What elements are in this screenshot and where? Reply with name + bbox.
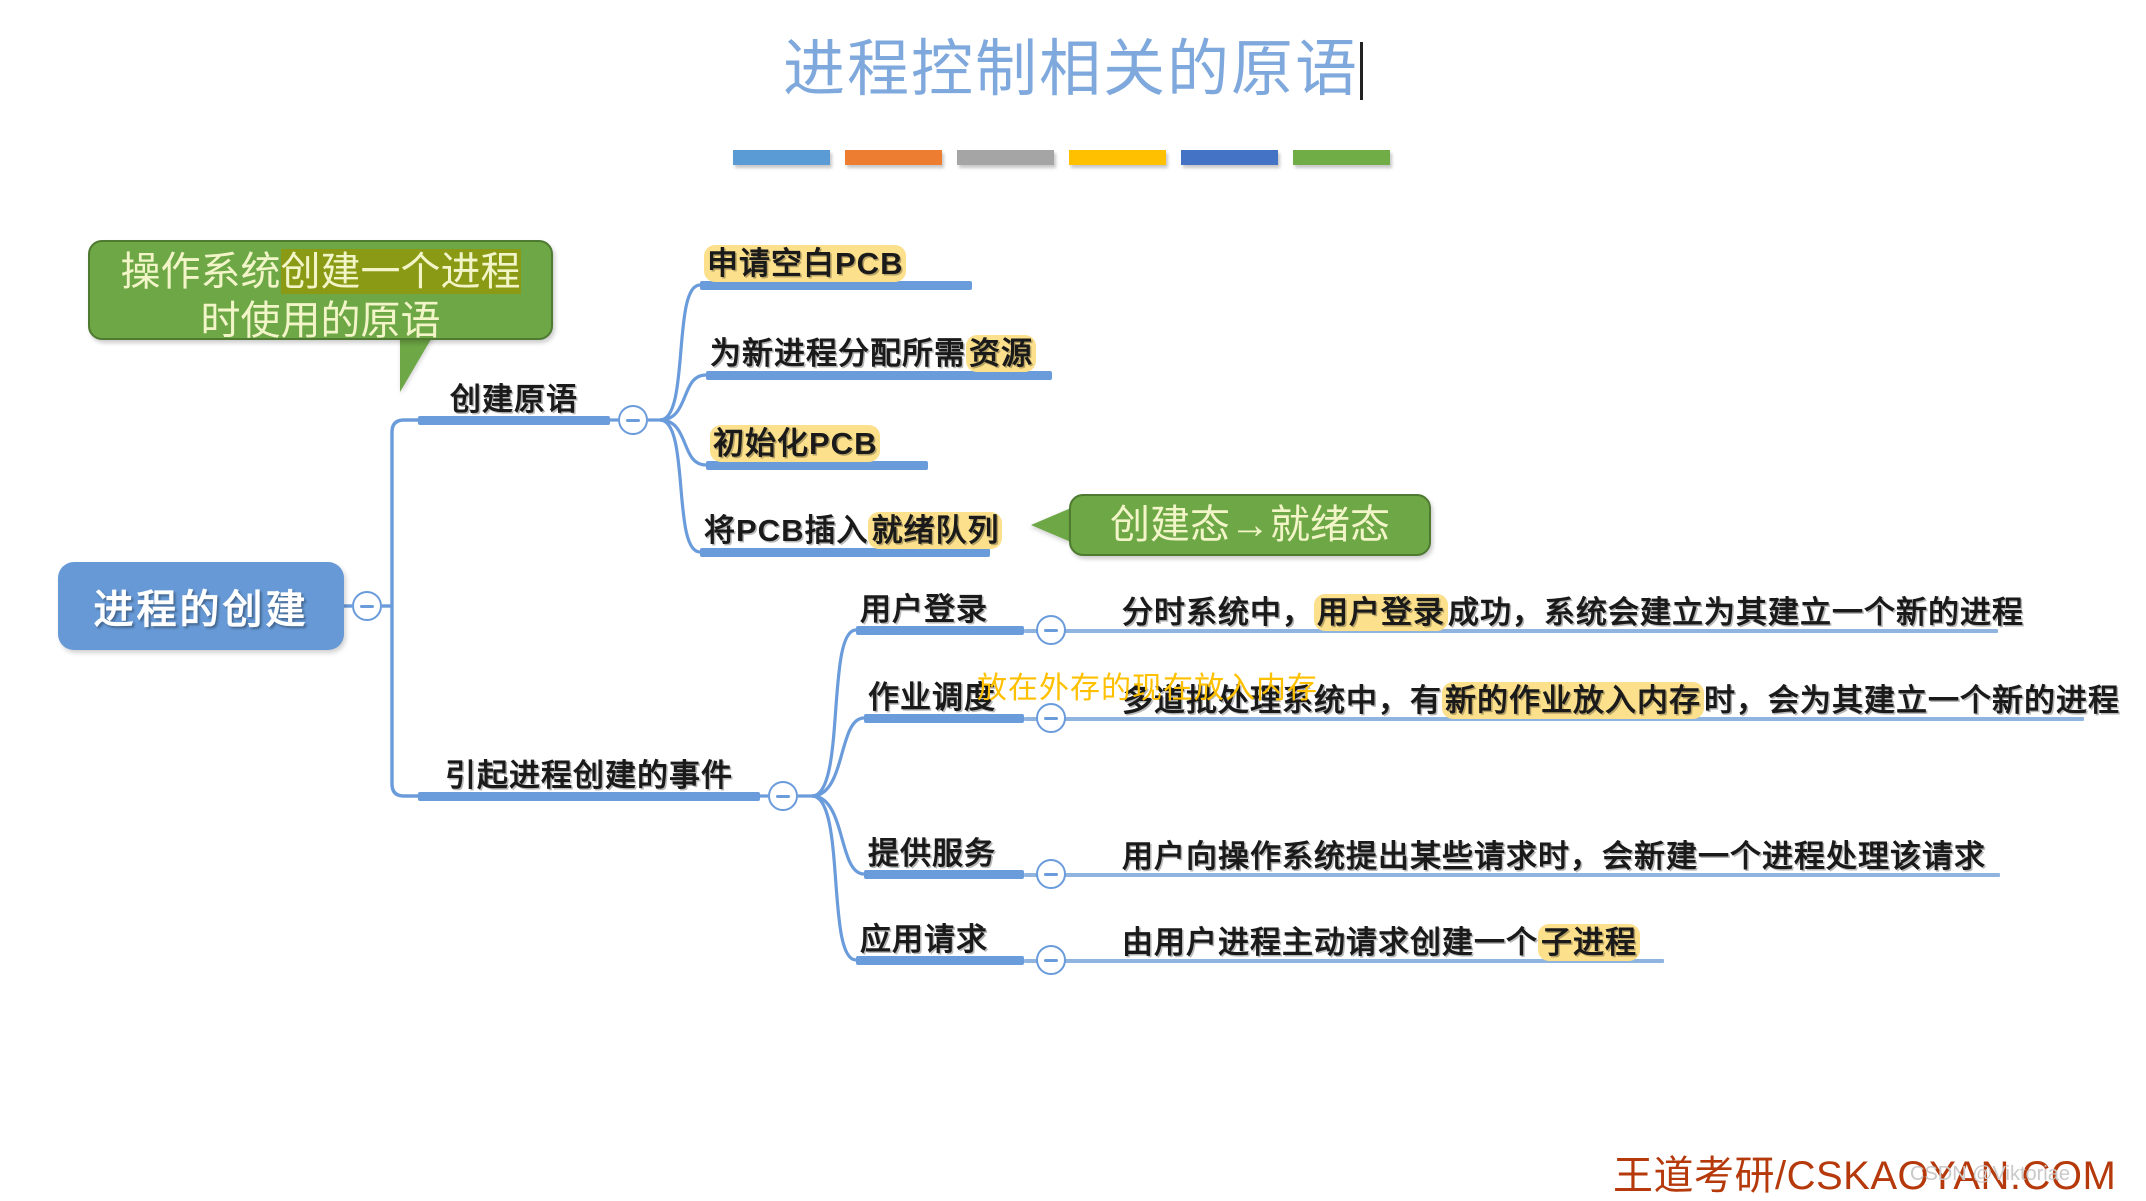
- branch-creation-events-collapse-toggle[interactable]: [768, 781, 798, 811]
- detail-node-application-request[interactable]: 由用户进程主动请求创建一个子进程: [1118, 917, 1644, 966]
- branch-node-create-primitive-label: 创建原语: [418, 374, 610, 423]
- callout-created-to-ready-text: 创建态→就绪态: [1110, 501, 1390, 550]
- root-collapse-toggle[interactable]: [352, 591, 382, 621]
- callout-created-to-ready[interactable]: 创建态→就绪态: [1069, 494, 1431, 556]
- detail-node-user-login[interactable]: 分时系统中，用户登录成功，系统会建立为其建立一个新的进程: [1118, 587, 2028, 636]
- branch-create-primitive-collapse-toggle[interactable]: [618, 405, 648, 435]
- callout-create-primitive-line2: 时使用的原语: [90, 297, 551, 346]
- leaf-node-application-request[interactable]: 应用请求: [856, 914, 992, 963]
- leaf-node-init-pcb[interactable]: 初始化PCB: [706, 418, 884, 467]
- leaf-provide-service-collapse-toggle[interactable]: [1036, 859, 1066, 889]
- leaf-node-user-login[interactable]: 用户登录: [856, 584, 992, 633]
- root-node-label: 进程的创建: [94, 577, 309, 635]
- leaf-job-scheduling-collapse-toggle[interactable]: [1036, 703, 1066, 733]
- detail-node-provide-service-text: 用户向操作系统提出某些请求时，会新建一个进程处理该请求: [1118, 831, 1990, 880]
- leaf-user-login-collapse-toggle[interactable]: [1036, 615, 1066, 645]
- leaf-node-allocate-resources[interactable]: 为新进程分配所需资源: [706, 328, 1040, 377]
- leaf-node-apply-blank-pcb[interactable]: 申请空白PCB: [700, 238, 910, 287]
- leaf-node-user-login-label: 用户登录: [856, 584, 992, 633]
- branch-node-create-primitive[interactable]: 创建原语: [418, 374, 610, 423]
- leaf-node-allocate-resources-label: 为新进程分配所需资源: [706, 328, 1040, 377]
- callout-created-to-ready-tail: [1031, 508, 1071, 542]
- leaf-node-insert-ready-queue-label: 将PCB插入就绪队列: [700, 505, 1006, 554]
- annotation-external-to-internal-memory[interactable]: 放在外存的现在放入内存: [977, 663, 1318, 707]
- callout-create-primitive[interactable]: 操作系统创建一个进程 时使用的原语: [88, 240, 553, 340]
- leaf-node-init-pcb-label: 初始化PCB: [706, 418, 884, 467]
- callout-create-primitive-line1: 操作系统创建一个进程: [90, 248, 551, 297]
- leaf-node-provide-service[interactable]: 提供服务: [864, 828, 1000, 877]
- leaf-application-request-collapse-toggle[interactable]: [1036, 945, 1066, 975]
- watermark-csdn-user: CSDN @Viktoriae: [1910, 1163, 2070, 1186]
- detail-node-user-login-text: 分时系统中，用户登录成功，系统会建立为其建立一个新的进程: [1118, 587, 2028, 636]
- branch-node-creation-events[interactable]: 引起进程创建的事件: [418, 750, 760, 799]
- mindmap-canvas: 进程的创建 创建原语 申请空白PCB 为新进程分配所需资源 初始化PCB 将PC…: [0, 0, 2146, 1196]
- leaf-node-apply-blank-pcb-label: 申请空白PCB: [700, 238, 910, 287]
- root-node[interactable]: 进程的创建: [58, 562, 344, 650]
- leaf-node-insert-ready-queue[interactable]: 将PCB插入就绪队列: [700, 505, 1006, 554]
- detail-node-application-request-text: 由用户进程主动请求创建一个子进程: [1118, 917, 1644, 966]
- detail-node-provide-service[interactable]: 用户向操作系统提出某些请求时，会新建一个进程处理该请求: [1118, 831, 1990, 880]
- leaf-node-application-request-label: 应用请求: [856, 914, 992, 963]
- leaf-node-provide-service-label: 提供服务: [864, 828, 1000, 877]
- branch-node-creation-events-label: 引起进程创建的事件: [418, 750, 760, 799]
